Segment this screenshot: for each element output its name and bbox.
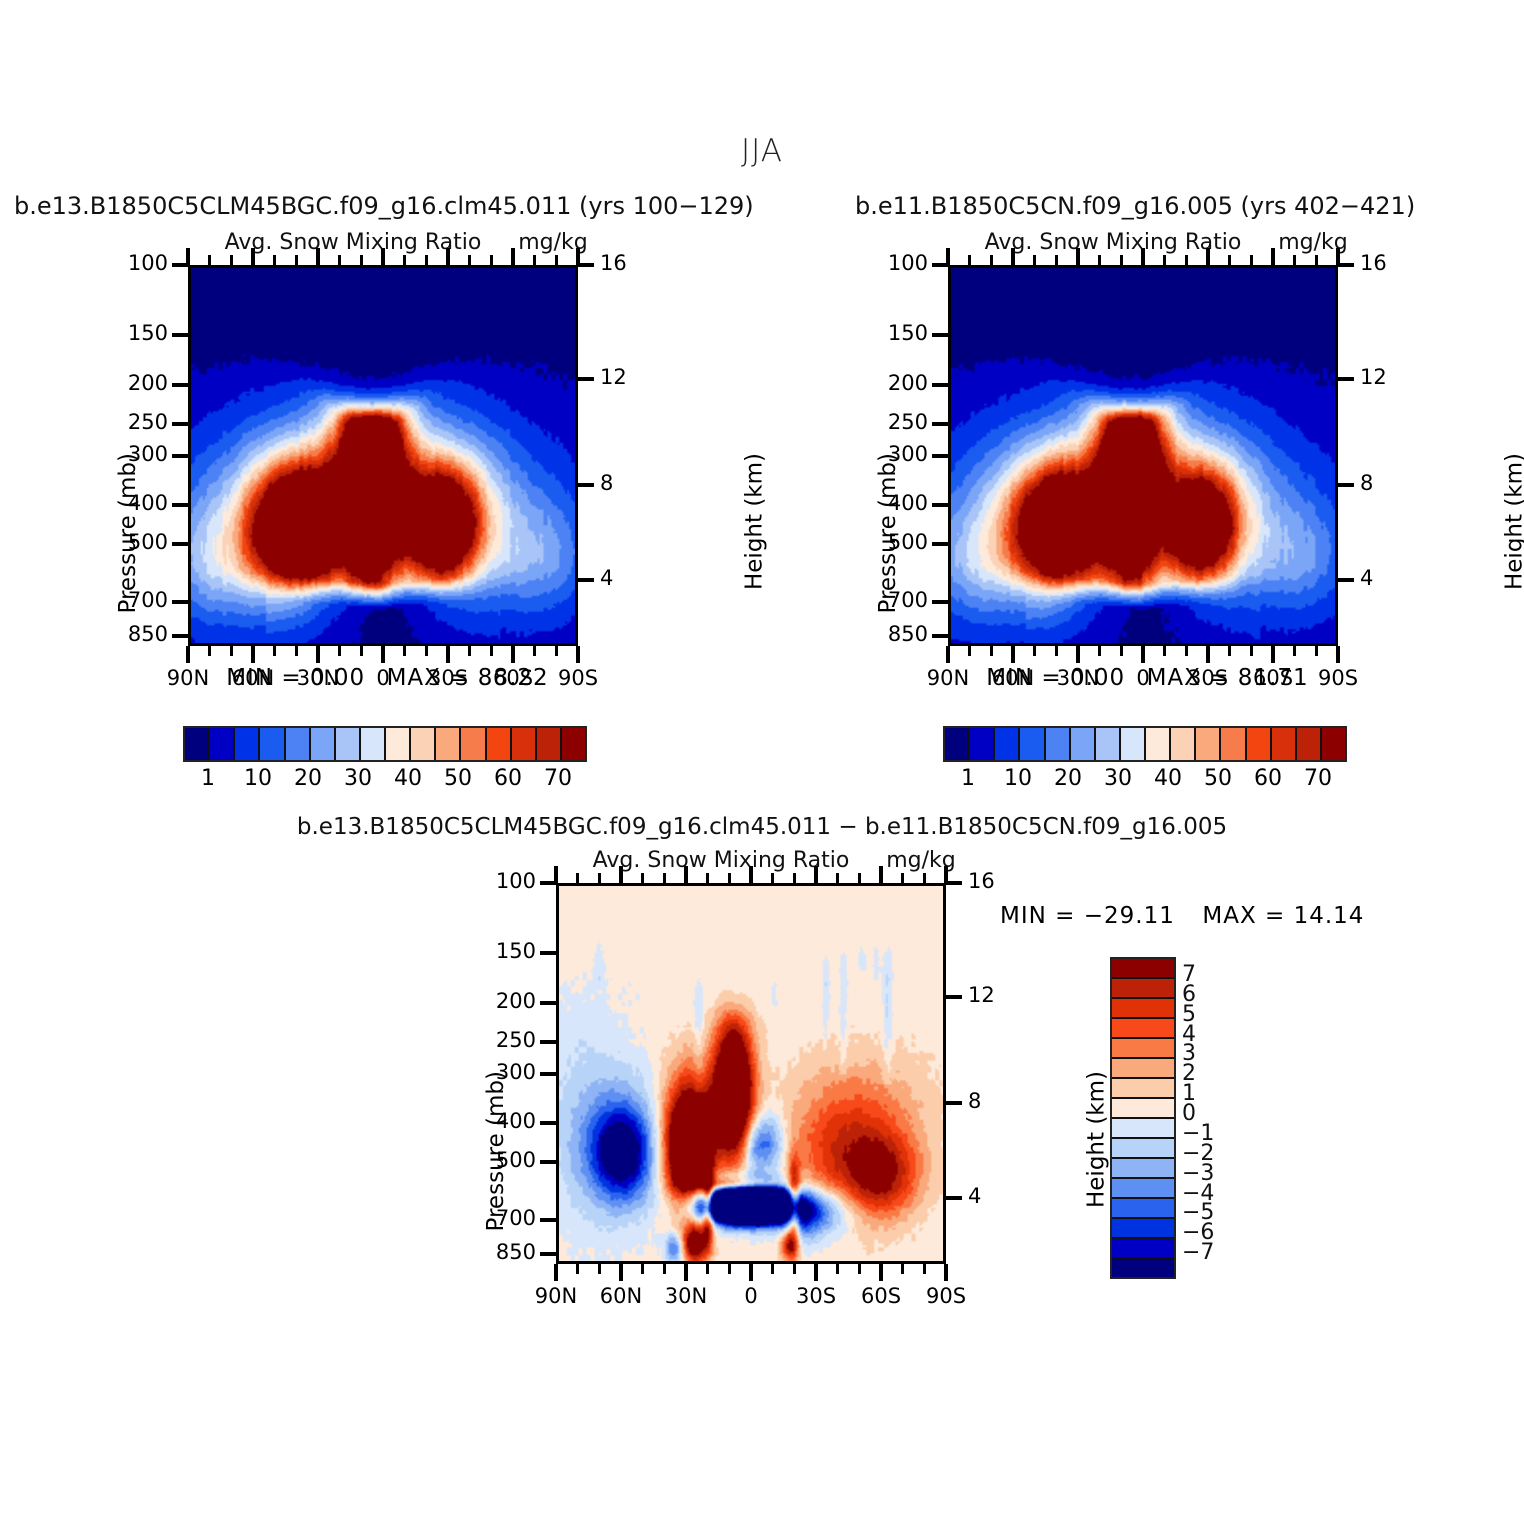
axis-tick (1250, 255, 1253, 265)
colorbar-swatch (1146, 728, 1171, 760)
axis-tick (540, 1072, 556, 1076)
axis-tick (578, 263, 594, 267)
pressure-tick-label: 700 (88, 588, 168, 612)
axis-tick (728, 1264, 731, 1274)
axis-tick (1076, 248, 1080, 265)
axis-tick (554, 1264, 558, 1281)
panel-left-plot-frame (188, 265, 578, 646)
axis-tick (251, 248, 255, 265)
axis-tick (1098, 646, 1101, 656)
axis-tick (932, 542, 948, 546)
pressure-tick-label: 850 (848, 622, 928, 646)
axis-tick (728, 873, 731, 883)
axis-tick (598, 873, 601, 883)
pressure-tick-label: 300 (88, 442, 168, 466)
panel-right-case-title: b.e11.B1850C5CN.f09_g16.005 (yrs 402−421… (855, 192, 1415, 220)
season-title: JJA (0, 133, 1524, 169)
axis-tick (208, 255, 211, 265)
axis-tick (771, 1264, 774, 1274)
axis-tick (901, 1264, 904, 1274)
axis-tick (1338, 377, 1354, 381)
axis-tick (968, 255, 971, 265)
axis-tick (706, 1264, 709, 1274)
pressure-tick-label: 400 (456, 1109, 536, 1133)
axis-tick (946, 1101, 962, 1105)
axis-tick (555, 646, 558, 656)
pressure-tick-label: 400 (88, 491, 168, 515)
axis-tick (858, 873, 861, 883)
colorbar-swatch (185, 728, 210, 760)
colorbar-swatch (235, 728, 260, 760)
axis-tick (540, 1160, 556, 1164)
axis-tick (932, 422, 948, 426)
axis-tick (1315, 646, 1318, 656)
axis-tick (1076, 646, 1080, 663)
colorbar-swatch (1112, 1039, 1174, 1059)
axis-tick (1185, 255, 1188, 265)
axis-tick (1120, 255, 1123, 265)
axis-tick (403, 646, 406, 656)
panel-diff-minmax: MIN = −29.11 MAX = 14.14 (1000, 903, 1364, 929)
axis-tick (1228, 646, 1231, 656)
colorbar-swatch (945, 728, 970, 760)
axis-tick (641, 873, 644, 883)
pressure-tick-label: 100 (88, 251, 168, 275)
colorbar-swatch (1112, 1079, 1174, 1099)
axis-tick (446, 248, 450, 265)
axis-tick (793, 873, 796, 883)
axis-tick (1163, 646, 1166, 656)
pressure-tick-label: 500 (456, 1148, 536, 1172)
axis-tick-label: 16 (1360, 251, 1387, 275)
axis-tick (578, 578, 594, 582)
axis-tick (172, 333, 188, 337)
colorbar-swatch (461, 728, 486, 760)
colorbar-swatch (1112, 1179, 1174, 1199)
axis-tick (186, 248, 190, 265)
axis-tick (576, 873, 579, 883)
axis-tick (295, 646, 298, 656)
panel-left-variable-label: Avg. Snow Mixing Ratio (188, 230, 518, 255)
axis-tick (468, 646, 471, 656)
axis-tick (990, 255, 993, 265)
pressure-tick-label: 700 (848, 588, 928, 612)
axis-tick (946, 881, 962, 885)
axis-tick (316, 646, 320, 663)
axis-tick (923, 1264, 926, 1274)
axis-tick (172, 634, 188, 638)
axis-tick (533, 255, 536, 265)
axis-tick (990, 646, 993, 656)
colorbar-swatch (1112, 979, 1174, 999)
panel-left-y2-axis-label: Height (km) (742, 453, 768, 590)
axis-tick (932, 634, 948, 638)
pressure-tick-label: 850 (456, 1240, 536, 1264)
axis-tick (576, 1264, 579, 1274)
colorbar-swatch (286, 728, 311, 760)
colorbar-swatch (1112, 1019, 1174, 1039)
axis-tick (403, 255, 406, 265)
axis-tick (1120, 646, 1123, 656)
colorbar-swatch (562, 728, 585, 760)
axis-tick (511, 248, 515, 265)
axis-tick (1271, 248, 1275, 265)
panel-diff-contour-field (559, 886, 943, 1261)
colorbar-swatch (1121, 728, 1146, 760)
axis-tick (1206, 248, 1210, 265)
axis-tick (172, 503, 188, 507)
axis-tick (836, 873, 839, 883)
axis-tick (172, 600, 188, 604)
axis-tick (230, 646, 233, 656)
pressure-tick-label: 700 (456, 1206, 536, 1230)
colorbar-swatch (1112, 1259, 1174, 1277)
axis-tick (360, 255, 363, 265)
panel-diff-variable-label: Avg. Snow Mixing Ratio (556, 848, 886, 873)
panel-right-min-value: 0.00 (1070, 665, 1112, 691)
latitude-tick-label: 90S (901, 1284, 991, 1308)
axis-tick (208, 646, 211, 656)
axis-tick (1055, 255, 1058, 265)
panel-right-variable-label: Avg. Snow Mixing Ratio (948, 230, 1278, 255)
colorbar-swatch (1020, 728, 1045, 760)
pressure-tick-label: 500 (848, 530, 928, 554)
colorbar-swatch (1112, 1239, 1174, 1259)
colorbar-swatch (361, 728, 386, 760)
panel-left-case-title: b.e13.B1850C5CLM45BGC.f09_g16.clm45.011 … (14, 192, 754, 220)
panel-right-max-value: 81.71 (1238, 665, 1300, 691)
axis-tick (540, 1121, 556, 1125)
panel-right-colorbar (943, 726, 1347, 762)
axis-tick (932, 333, 948, 337)
colorbar-swatch (995, 728, 1020, 760)
axis-tick (555, 255, 558, 265)
axis-tick (1033, 255, 1036, 265)
axis-tick (554, 866, 558, 883)
panel-diff-max-value: 14.14 (1294, 903, 1364, 929)
axis-tick (316, 248, 320, 265)
axis-tick (946, 1196, 962, 1200)
colorbar-swatch (1112, 999, 1174, 1019)
axis-tick (749, 1264, 753, 1281)
panel-diff-plot-frame (556, 883, 946, 1264)
panel-diff-y2-axis-label: Height (km) (1084, 1071, 1110, 1208)
axis-tick (684, 866, 688, 883)
axis-tick (836, 1264, 839, 1274)
panel-right-minmax: MIN = 0.00 MAX = 81.71 (948, 665, 1338, 691)
colorbar-swatch (260, 728, 285, 760)
axis-tick (273, 255, 276, 265)
axis-tick (932, 503, 948, 507)
pressure-tick-label: 200 (848, 371, 928, 395)
pressure-tick-label: 250 (848, 410, 928, 434)
panel-diff-colorbar (1110, 957, 1176, 1279)
colorbar-swatch (1112, 1119, 1174, 1139)
axis-tick (1141, 248, 1145, 265)
axis-tick (1293, 646, 1296, 656)
colorbar-swatch (1112, 959, 1174, 979)
pressure-tick-label: 500 (88, 530, 168, 554)
axis-tick (1338, 263, 1354, 267)
colorbar-swatch (1112, 1099, 1174, 1119)
axis-tick (944, 1264, 948, 1281)
colorbar-swatch (1247, 728, 1272, 760)
axis-tick (879, 866, 883, 883)
axis-tick (706, 873, 709, 883)
axis-tick (578, 377, 594, 381)
axis-tick (1011, 646, 1015, 663)
colorbar-swatch (1322, 728, 1345, 760)
axis-tick (1338, 483, 1354, 487)
axis-tick (923, 873, 926, 883)
colorbar-swatch (1046, 728, 1071, 760)
axis-tick-label: 12 (1360, 365, 1387, 389)
colorbar-swatch (1272, 728, 1297, 760)
axis-tick (490, 646, 493, 656)
axis-tick (598, 1264, 601, 1274)
axis-tick-label: 16 (968, 869, 995, 893)
panel-left-colorbar (183, 726, 587, 762)
axis-tick-label: 4 (600, 566, 613, 590)
axis-tick-label: 12 (968, 983, 995, 1007)
axis-tick (468, 255, 471, 265)
axis-tick (901, 873, 904, 883)
colorbar-swatch (1171, 728, 1196, 760)
pressure-tick-label: 100 (456, 869, 536, 893)
axis-tick (360, 646, 363, 656)
axis-tick (1033, 646, 1036, 656)
colorbar-swatch (1221, 728, 1246, 760)
colorbar-swatch (1071, 728, 1096, 760)
axis-tick (663, 1264, 666, 1274)
axis-tick (1250, 646, 1253, 656)
axis-tick (641, 1264, 644, 1274)
axis-tick (946, 248, 950, 265)
pressure-tick-label: 200 (456, 989, 536, 1013)
panel-diff-min-value: −29.11 (1084, 903, 1166, 929)
axis-tick (381, 248, 385, 265)
colorbar-swatch (1112, 1219, 1174, 1239)
colorbar-swatch (537, 728, 562, 760)
colorbar-swatch (210, 728, 235, 760)
colorbar-swatch (336, 728, 361, 760)
axis-tick (540, 951, 556, 955)
colorbar-swatch (970, 728, 995, 760)
panel-left-contour-field (191, 268, 575, 643)
axis-tick (172, 454, 188, 458)
axis-tick (619, 866, 623, 883)
axis-tick (946, 646, 950, 663)
axis-tick (172, 422, 188, 426)
colorbar-swatch (1196, 728, 1221, 760)
axis-tick (879, 1264, 883, 1281)
colorbar-swatch (386, 728, 411, 760)
axis-tick (425, 255, 428, 265)
colorbar-swatch (1112, 1159, 1174, 1179)
axis-tick (932, 383, 948, 387)
pressure-tick-label: 250 (88, 410, 168, 434)
axis-tick (540, 1252, 556, 1256)
panel-right-y2-axis-label: Height (km) (1502, 453, 1524, 590)
colorbar-swatch (1297, 728, 1322, 760)
axis-tick (1011, 248, 1015, 265)
colorbar-swatch (1096, 728, 1121, 760)
panel-right-max-label: MAX = (1147, 665, 1230, 691)
axis-tick (576, 248, 580, 265)
axis-tick (338, 646, 341, 656)
panel-left-min-value: 0.00 (310, 665, 352, 691)
axis-tick (944, 866, 948, 883)
axis-tick (295, 255, 298, 265)
axis-tick (858, 1264, 861, 1274)
axis-tick (251, 646, 255, 663)
axis-tick-label: 4 (968, 1184, 981, 1208)
panel-left-minmax: MIN = 0.00 MAX = 88.22 (188, 665, 578, 691)
axis-tick (1271, 646, 1275, 663)
axis-tick-label: 8 (968, 1089, 981, 1113)
axis-tick (814, 866, 818, 883)
axis-tick (338, 255, 341, 265)
axis-tick (1055, 646, 1058, 656)
colorbar-swatch (1112, 1059, 1174, 1079)
pressure-tick-label: 150 (456, 939, 536, 963)
axis-tick (578, 483, 594, 487)
pressure-tick-label: 200 (88, 371, 168, 395)
axis-tick (273, 646, 276, 656)
axis-tick (381, 646, 385, 663)
panel-right-min-label: MIN = (986, 665, 1061, 691)
pressure-tick-label: 850 (88, 622, 168, 646)
panel-right-plot-frame (948, 265, 1338, 646)
axis-tick (540, 1001, 556, 1005)
axis-tick (1098, 255, 1101, 265)
axis-tick (186, 646, 190, 663)
colorbar-swatch (512, 728, 537, 760)
axis-tick (932, 454, 948, 458)
pressure-tick-label: 150 (848, 321, 928, 345)
axis-tick (932, 600, 948, 604)
pressure-tick-label: 150 (88, 321, 168, 345)
axis-tick (1315, 255, 1318, 265)
axis-tick (540, 1040, 556, 1044)
panel-diff-min-label: MIN = (1000, 903, 1075, 929)
axis-tick-label: 12 (600, 365, 627, 389)
colorbar-swatch (1112, 1199, 1174, 1219)
panel-diff-max-label: MAX = (1202, 903, 1285, 929)
axis-tick-label: 8 (1360, 471, 1373, 495)
colorbar-swatch (1112, 1139, 1174, 1159)
panel-left-max-label: MAX = (387, 665, 470, 691)
pressure-tick-label: 400 (848, 491, 928, 515)
axis-tick (1336, 646, 1340, 663)
panel-left-max-value: 88.22 (478, 665, 540, 691)
panel-right-contour-field (951, 268, 1335, 643)
axis-tick-label: 8 (600, 471, 613, 495)
axis-tick (771, 873, 774, 883)
axis-tick (619, 1264, 623, 1281)
axis-tick (230, 255, 233, 265)
pressure-tick-label: 300 (848, 442, 928, 466)
axis-tick (1185, 646, 1188, 656)
axis-tick (663, 873, 666, 883)
axis-tick (172, 542, 188, 546)
axis-tick-label: 4 (1360, 566, 1373, 590)
colorbar-swatch (487, 728, 512, 760)
axis-tick (425, 646, 428, 656)
axis-tick (968, 646, 971, 656)
panel-diff-case-title: b.e13.B1850C5CLM45BGC.f09_g16.clm45.011 … (0, 814, 1524, 840)
pressure-tick-label: 300 (456, 1060, 536, 1084)
axis-tick (814, 1264, 818, 1281)
axis-tick (511, 646, 515, 663)
colorbar-swatch (311, 728, 336, 760)
axis-tick (1206, 646, 1210, 663)
axis-tick (1163, 255, 1166, 265)
axis-tick-label: 16 (600, 251, 627, 275)
axis-tick (576, 646, 580, 663)
pressure-tick-label: 250 (456, 1028, 536, 1052)
axis-tick (1338, 578, 1354, 582)
axis-tick (1141, 646, 1145, 663)
panel-left-min-label: MIN = (226, 665, 301, 691)
colorbar-swatch (436, 728, 461, 760)
colorbar-tick-label: −7 (1182, 1240, 1214, 1265)
axis-tick (946, 995, 962, 999)
colorbar-tick-label: 70 (518, 766, 598, 791)
axis-tick (793, 1264, 796, 1274)
axis-tick (533, 646, 536, 656)
pressure-tick-label: 100 (848, 251, 928, 275)
axis-tick (172, 383, 188, 387)
axis-tick (490, 255, 493, 265)
axis-tick (1293, 255, 1296, 265)
colorbar-tick-label: 70 (1278, 766, 1358, 791)
axis-tick (1228, 255, 1231, 265)
colorbar-swatch (411, 728, 436, 760)
axis-tick (749, 866, 753, 883)
axis-tick (446, 646, 450, 663)
axis-tick (540, 1218, 556, 1222)
axis-tick (684, 1264, 688, 1281)
axis-tick (1336, 248, 1340, 265)
